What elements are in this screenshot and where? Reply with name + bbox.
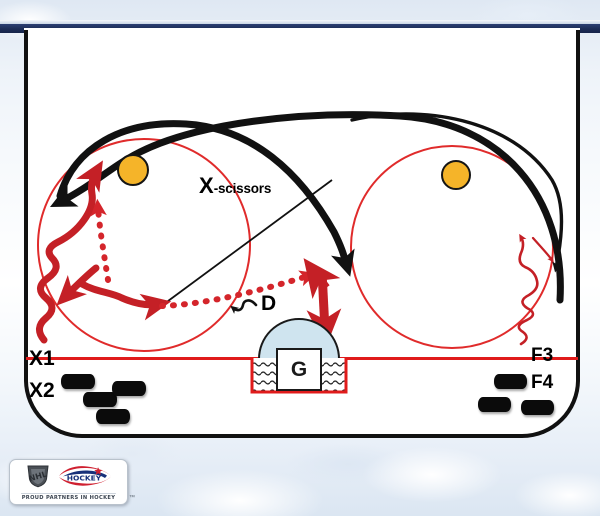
red-carry-left-downright <box>82 284 158 305</box>
puck <box>83 392 117 407</box>
d-leader-line <box>233 300 256 310</box>
usa-hockey-logo: HOCKEY <box>57 464 113 488</box>
faceoff-dot-left <box>118 155 148 185</box>
red-slot-drive-to-net <box>322 272 325 330</box>
puck <box>96 409 130 424</box>
black-path-right-outside <box>352 114 562 268</box>
label-f4: F4 <box>531 373 553 392</box>
label-x1: X1 <box>29 348 55 369</box>
puck <box>478 397 511 412</box>
red-pivot-right-arrow <box>533 238 552 260</box>
puck <box>61 374 95 389</box>
red-carry-right-wavy <box>519 237 538 344</box>
puck <box>521 400 554 415</box>
label-f3: F3 <box>531 346 553 365</box>
red-pass-up-left <box>98 208 108 280</box>
faceoff-dot-right <box>442 161 470 189</box>
logo-tagline: PROUD PARTNERS IN HOCKEY <box>21 493 116 502</box>
trademark-symbol: ™ <box>129 495 135 501</box>
drill-diagram-canvas: X1 X2 F3 F4 D G X-scissors NHL <box>0 0 600 516</box>
label-x2: X2 <box>29 380 55 401</box>
rink-markings <box>0 0 600 516</box>
svg-text:HOCKEY: HOCKEY <box>66 473 101 482</box>
red-pass-to-slot <box>162 276 308 306</box>
nhl-shield-logo: NHL <box>25 464 51 488</box>
puck <box>494 374 527 389</box>
label-d: D <box>261 293 276 314</box>
puck <box>112 381 146 396</box>
label-goalie: G <box>278 352 320 388</box>
scissors-word: -scissors <box>214 181 272 196</box>
black-path-right-to-left <box>60 115 560 300</box>
scissors-x-glyph: X <box>199 173 214 198</box>
partner-logo-panel: NHL HOCKEY PROUD PARTNERS IN HOCKEY <box>9 459 128 505</box>
label-x-scissors: X-scissors <box>199 173 271 199</box>
